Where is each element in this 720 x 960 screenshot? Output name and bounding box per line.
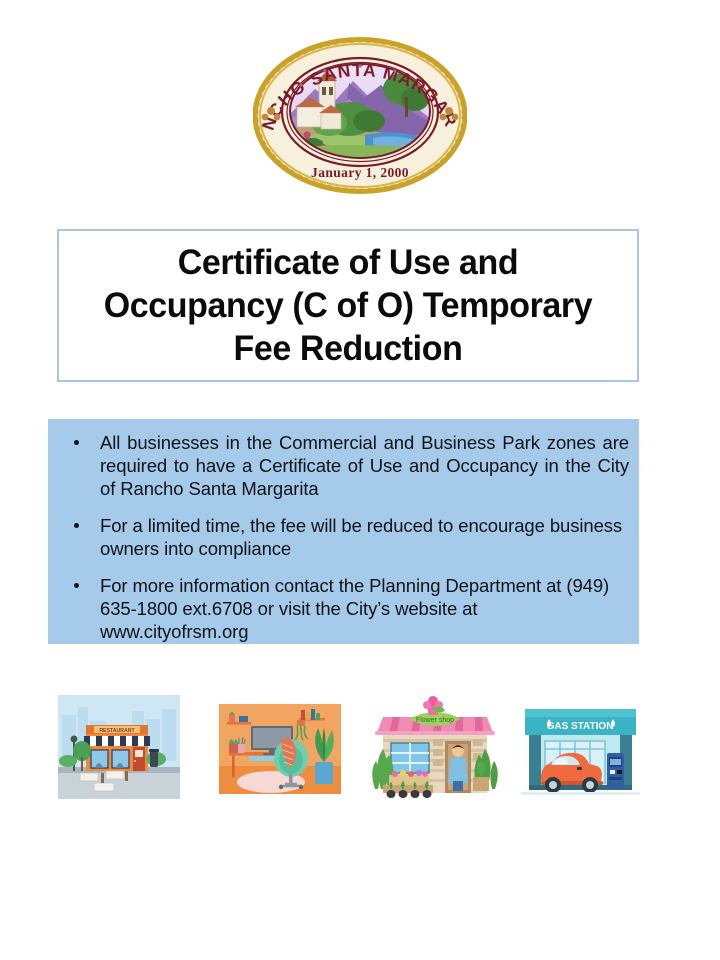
flyer-page: RANCHO SANTA MARGARITA January 1, 2000 C… [0,0,720,960]
image-strip: RESTAURANT [0,0,720,960]
flower-shop-image: Flower shop [369,693,501,801]
gas-station-image: GAS STATION [521,697,640,798]
flower-shop-sign-text: Flower shop [416,717,454,724]
gas-station-sign-text: GAS STATION [547,721,614,732]
restaurant-sign-text: RESTAURANT [99,728,135,734]
restaurant-storefront-image: RESTAURANT [58,695,180,799]
home-office-image [215,700,345,798]
